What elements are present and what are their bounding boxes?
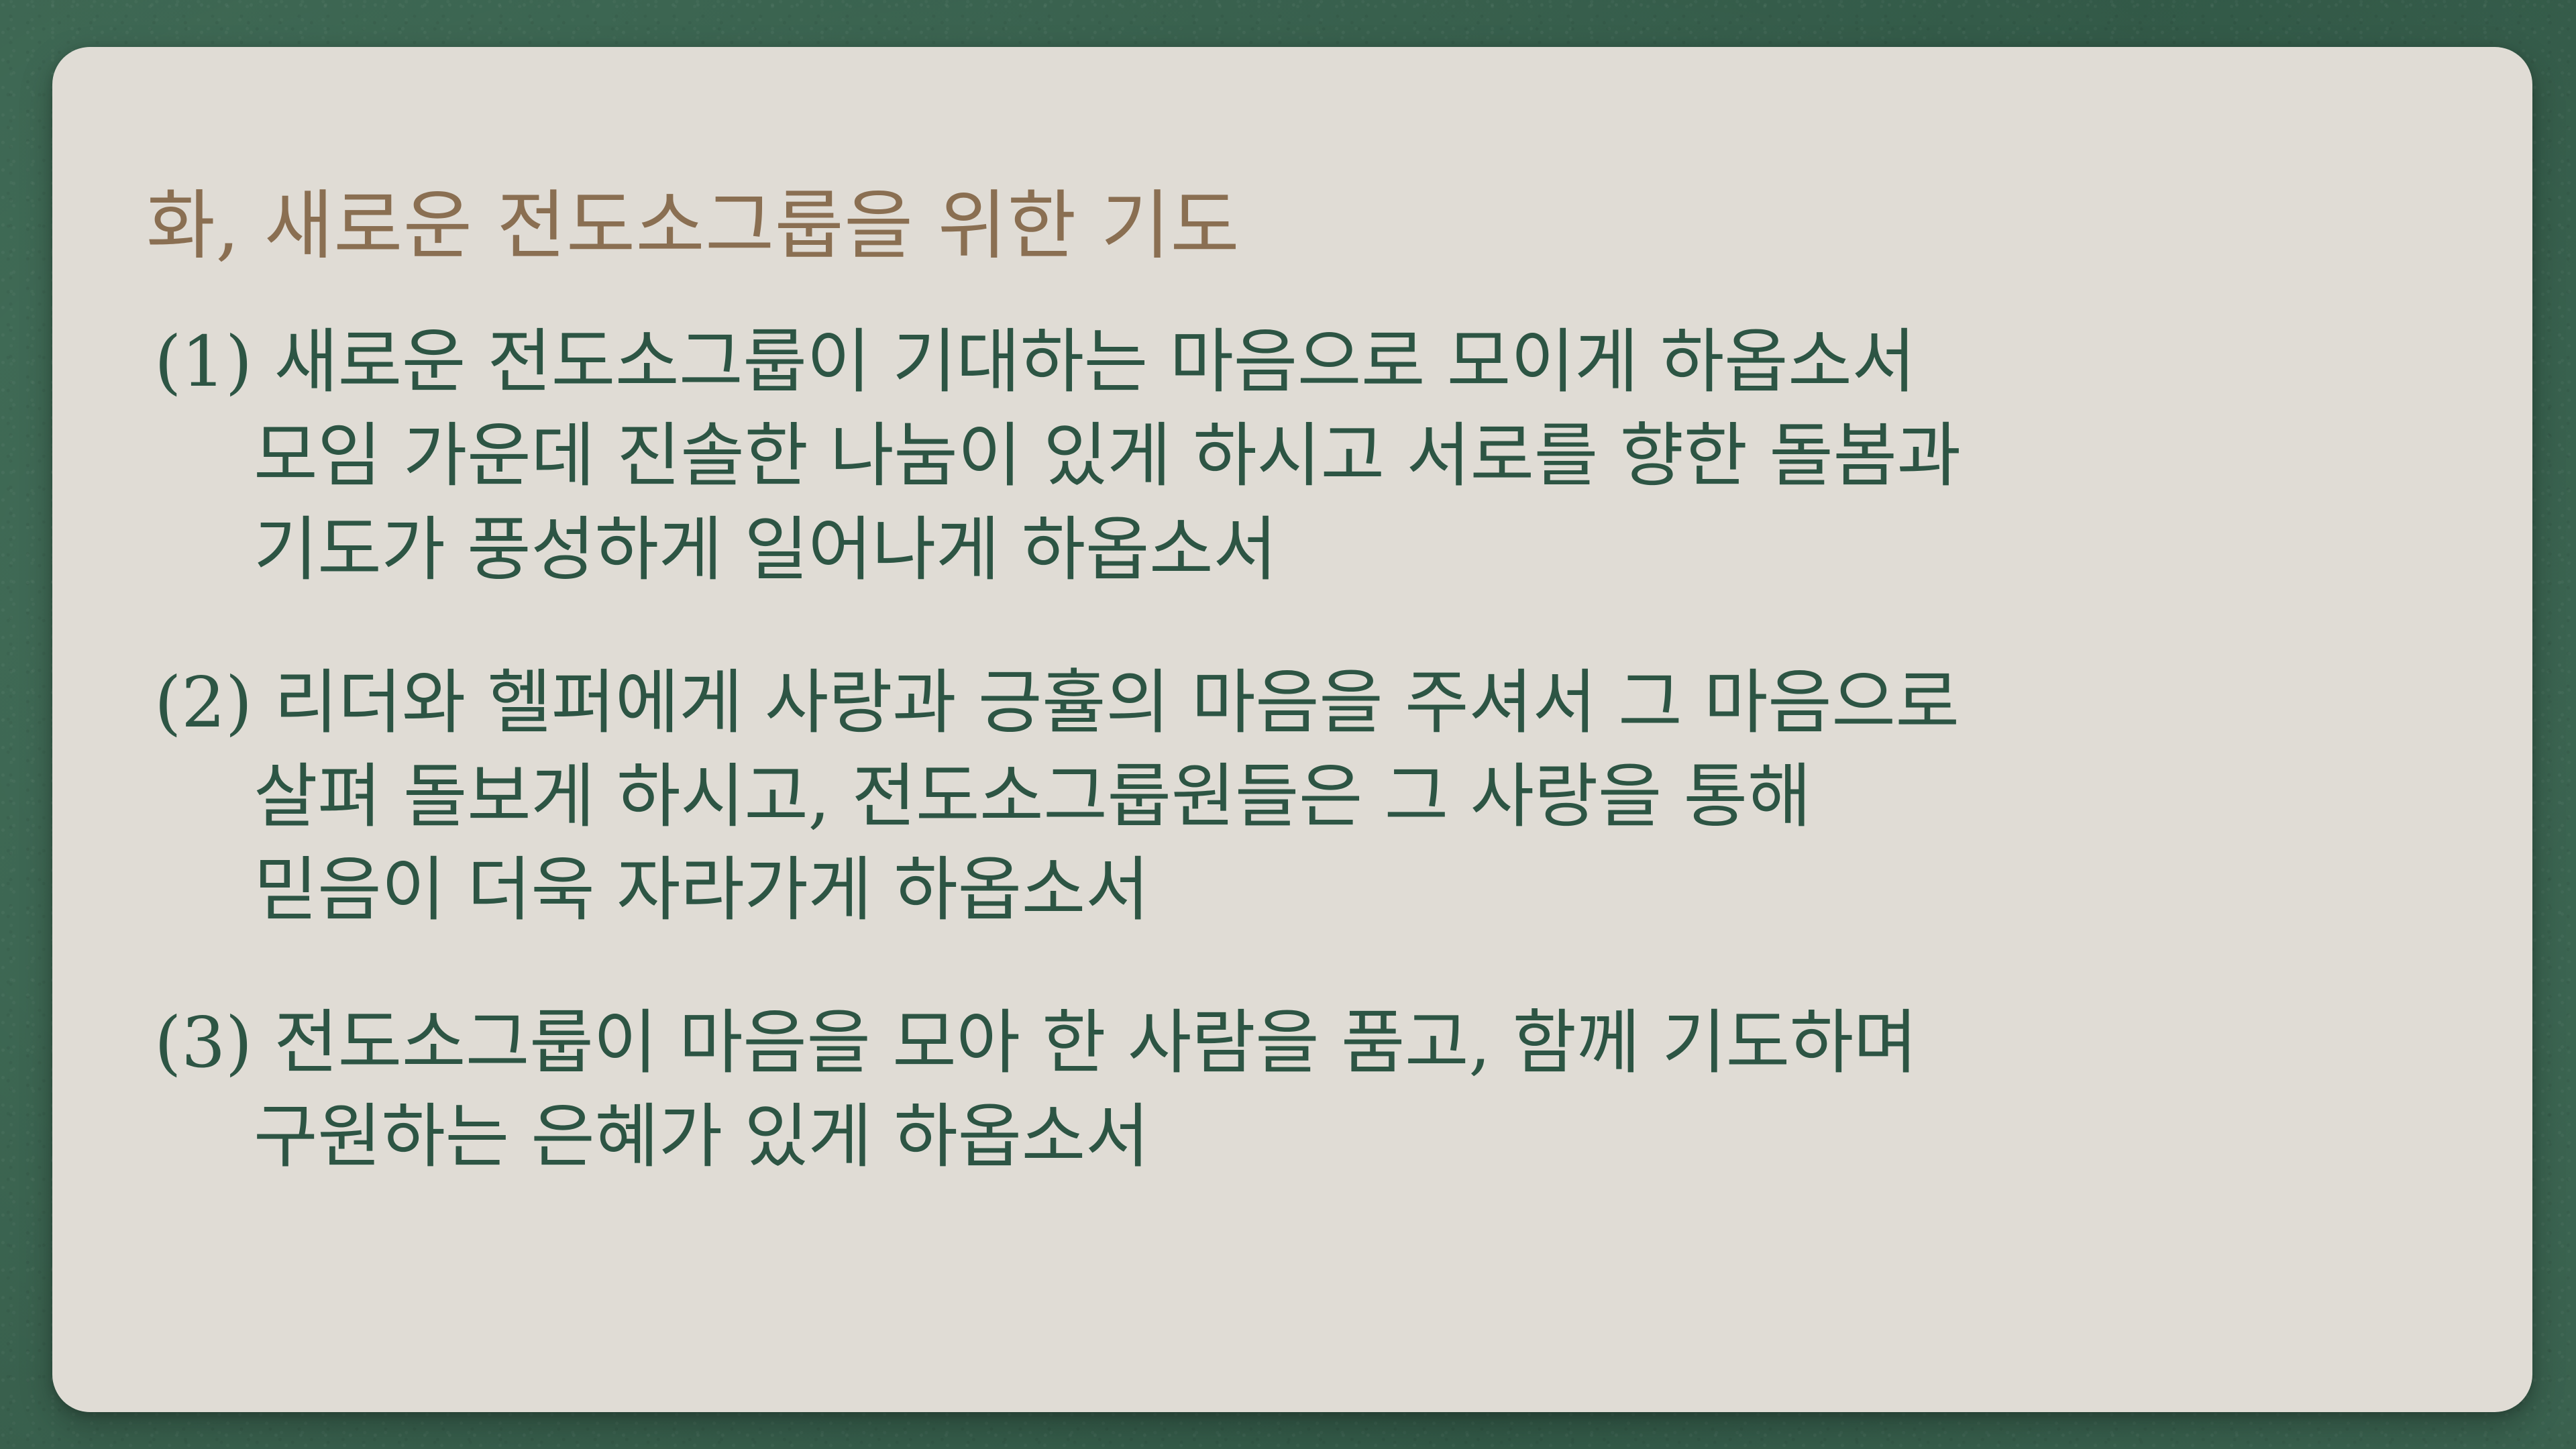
prayer-list: (1) 새로운 전도소그룹이 기대하는 마음으로 모이게 하옵소서 모임 가운데… [154,315,2459,1184]
prayer-item-2: (2) 리더와 헬퍼에게 사랑과 긍휼의 마음을 주셔서 그 마음으로 살펴 돌… [154,656,2459,938]
prayer-line: 기도가 풍성하게 일어나게 하옵소서 [154,503,2459,597]
prayer-line: (2) 리더와 헬퍼에게 사랑과 긍휼의 마음을 주셔서 그 마음으로 [154,656,2459,750]
content-card: 화, 새로운 전도소그룹을 위한 기도 (1) 새로운 전도소그룹이 기대하는 … [52,47,2532,1412]
prayer-line: 모임 가운데 진솔한 나눔이 있게 하시고 서로를 향한 돌봄과 [154,409,2459,503]
prayer-line: (1) 새로운 전도소그룹이 기대하는 마음으로 모이게 하옵소서 [154,315,2459,409]
prayer-item-1: (1) 새로운 전도소그룹이 기대하는 마음으로 모이게 하옵소서 모임 가운데… [154,315,2459,597]
slide-root: 화, 새로운 전도소그룹을 위한 기도 (1) 새로운 전도소그룹이 기대하는 … [0,0,2576,1449]
page-title: 화, 새로운 전도소그룹을 위한 기도 [146,189,1240,264]
prayer-line: 믿음이 더욱 자라가게 하옵소서 [154,843,2459,937]
prayer-line: 구원하는 은혜가 있게 하옵소서 [154,1090,2459,1184]
prayer-item-3: (3) 전도소그룹이 마음을 모아 한 사람을 품고, 함께 기도하며 구원하는… [154,996,2459,1184]
prayer-line: 살펴 돌보게 하시고, 전도소그룹원들은 그 사랑을 통해 [154,750,2459,844]
prayer-line: (3) 전도소그룹이 마음을 모아 한 사람을 품고, 함께 기도하며 [154,996,2459,1090]
